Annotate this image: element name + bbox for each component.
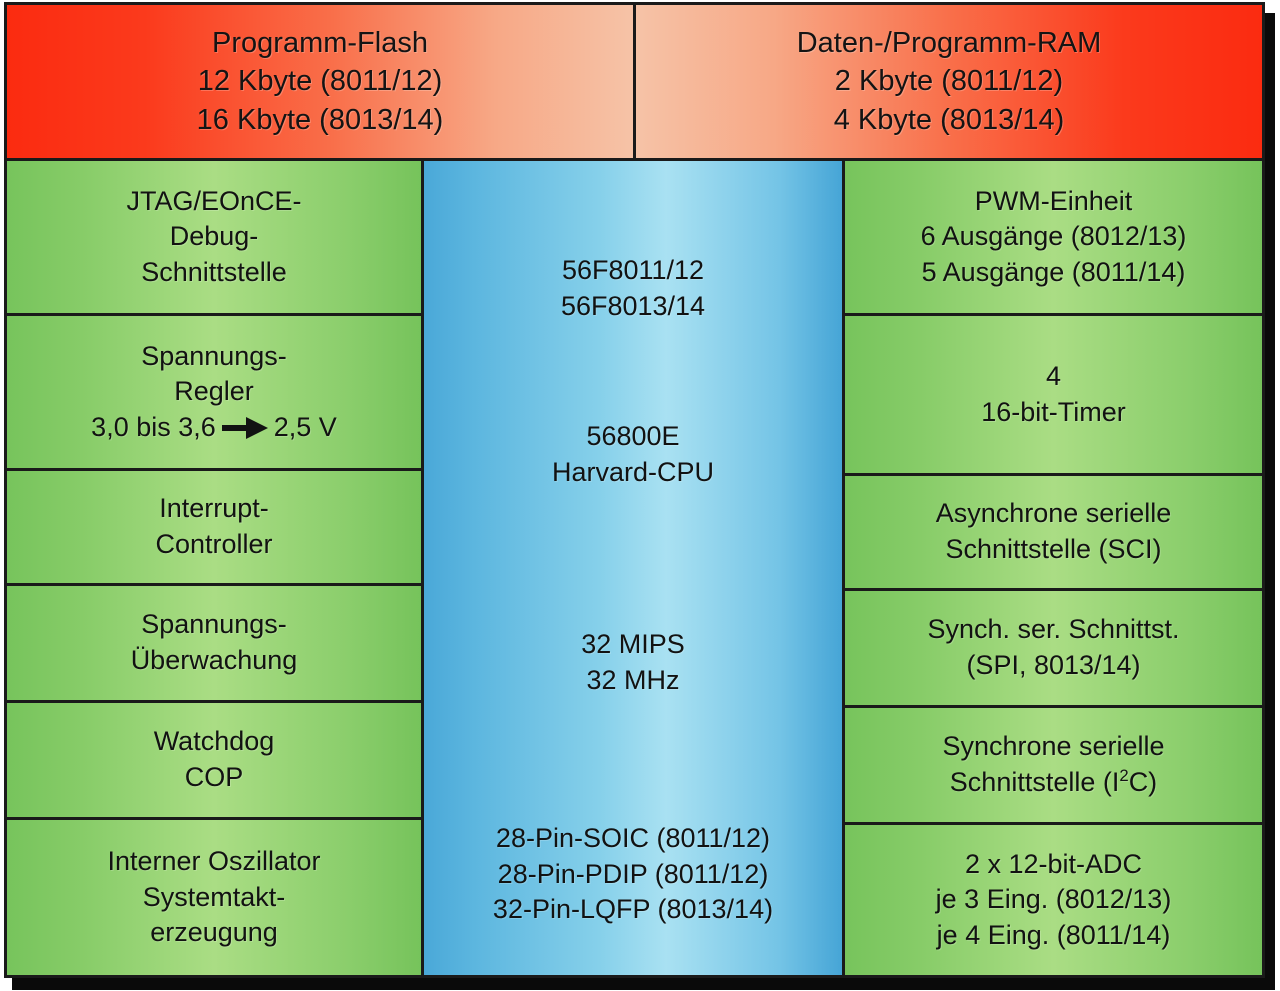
cpu-packages: 28-Pin-SOIC (8011/12) 28-Pin-PDIP (8011/…: [424, 821, 842, 928]
watchdog-line1: Watchdog: [154, 724, 275, 760]
block-pwm-unit: PWM-Einheit 6 Ausgänge (8012/13) 5 Ausgä…: [845, 161, 1262, 316]
left-peripheral-column: JTAG/EOnCE- Debug- Schnittstelle Spannun…: [7, 161, 424, 975]
right-peripheral-column: PWM-Einheit 6 Ausgänge (8012/13) 5 Ausgä…: [845, 161, 1262, 975]
pwm-line2: 6 Ausgänge (8012/13): [921, 219, 1187, 255]
adc-line2: je 3 Eing. (8012/13): [936, 882, 1172, 918]
block-adc: 2 x 12-bit-ADC je 3 Eing. (8012/13) je 4…: [845, 825, 1262, 975]
sci-line2: Schnittstelle (SCI): [945, 532, 1161, 568]
block-spi: Synch. ser. Schnittst. (SPI, 8013/14): [845, 591, 1262, 708]
ram-size-8011: 2 Kbyte (8011/12): [835, 62, 1063, 101]
ram-title: Daten-/Programm-RAM: [797, 24, 1102, 63]
cpu-core-line2: Harvard-CPU: [424, 455, 842, 491]
jtag-line3: Schnittstelle: [141, 255, 287, 291]
jtag-line1: JTAG/EOnCE-: [126, 184, 301, 220]
block-watchdog: Watchdog COP: [7, 703, 421, 820]
chip-frame: Programm-Flash 12 Kbyte (8011/12) 16 Kby…: [4, 2, 1265, 978]
vreg-voltage-in: 3,0 bis 3,6: [91, 410, 216, 446]
cpu-core: 56800E Harvard-CPU: [424, 419, 842, 490]
right-arrow-icon: [222, 417, 268, 439]
vmon-line2: Überwachung: [131, 643, 298, 679]
block-sci: Asynchrone serielle Schnittstelle (SCI): [845, 476, 1262, 591]
block-internal-oscillator: Interner Oszillator Systemtakt- erzeugun…: [7, 820, 421, 975]
cpu-speed: 32 MIPS 32 MHz: [424, 627, 842, 698]
i2c-superscript: 2: [1119, 766, 1128, 785]
vreg-line1: Spannungs-: [141, 339, 287, 375]
interrupt-line2: Controller: [155, 527, 272, 563]
vreg-line2: Regler: [174, 374, 254, 410]
cpu-mhz: 32 MHz: [424, 663, 842, 699]
block-i2c: Synchrone serielle Schnittstelle (I2C): [845, 708, 1262, 825]
adc-line1: 2 x 12-bit-ADC: [965, 847, 1142, 883]
block-program-flash: Programm-Flash 12 Kbyte (8011/12) 16 Kby…: [7, 5, 636, 158]
vreg-voltage-line: 3,0 bis 3,6 2,5 V: [91, 410, 337, 446]
cpu-mips: 32 MIPS: [424, 627, 842, 663]
columns-area: JTAG/EOnCE- Debug- Schnittstelle Spannun…: [7, 161, 1262, 975]
watchdog-line2: COP: [185, 760, 244, 796]
block-jtag-debug: JTAG/EOnCE- Debug- Schnittstelle: [7, 161, 421, 316]
program-flash-title: Programm-Flash: [212, 24, 428, 63]
timer-count: 4: [1046, 359, 1061, 395]
cpu-part-line2: 56F8013/14: [424, 289, 842, 325]
block-interrupt-controller: Interrupt- Controller: [7, 471, 421, 586]
osc-line2: Systemtakt-: [143, 880, 286, 916]
block-timers: 4 16-bit-Timer: [845, 316, 1262, 476]
program-flash-size-8013: 16 Kbyte (8013/14): [197, 101, 444, 140]
cpu-part-line1: 56F8011/12: [424, 253, 842, 289]
i2c-suffix: C): [1129, 767, 1158, 797]
center-cpu-column: 56F8011/12 56F8013/14 56800E Harvard-CPU…: [424, 161, 845, 975]
vmon-line1: Spannungs-: [141, 607, 287, 643]
i2c-line1: Synchrone serielle: [942, 729, 1164, 765]
pwm-line3: 5 Ausgänge (8011/14): [922, 255, 1186, 291]
i2c-line2: Schnittstelle (I2C): [950, 765, 1157, 801]
block-diagram: Programm-Flash 12 Kbyte (8011/12) 16 Kby…: [0, 0, 1280, 991]
program-flash-size-8011: 12 Kbyte (8011/12): [198, 62, 443, 101]
timer-type: 16-bit-Timer: [981, 395, 1126, 431]
cpu-core-line1: 56800E: [424, 419, 842, 455]
pwm-line1: PWM-Einheit: [975, 184, 1133, 220]
cpu-part-numbers: 56F8011/12 56F8013/14: [424, 253, 842, 324]
osc-line3: erzeugung: [150, 915, 278, 951]
jtag-line2: Debug-: [170, 219, 259, 255]
i2c-prefix: Schnittstelle (I: [950, 767, 1120, 797]
adc-line3: je 4 Eing. (8011/14): [937, 918, 1171, 954]
package-lqfp: 32-Pin-LQFP (8013/14): [424, 892, 842, 928]
package-pdip: 28-Pin-PDIP (8011/12): [424, 857, 842, 893]
package-soic: 28-Pin-SOIC (8011/12): [424, 821, 842, 857]
spi-line1: Synch. ser. Schnittst.: [927, 612, 1179, 648]
interrupt-line1: Interrupt-: [159, 491, 269, 527]
block-voltage-regulator: Spannungs- Regler 3,0 bis 3,6 2,5 V: [7, 316, 421, 471]
vreg-voltage-out: 2,5 V: [274, 410, 337, 446]
memory-row: Programm-Flash 12 Kbyte (8011/12) 16 Kby…: [7, 5, 1262, 161]
spi-line2: (SPI, 8013/14): [966, 648, 1140, 684]
block-data-program-ram: Daten-/Programm-RAM 2 Kbyte (8011/12) 4 …: [636, 5, 1262, 158]
osc-line1: Interner Oszillator: [107, 844, 320, 880]
sci-line1: Asynchrone serielle: [936, 496, 1172, 532]
block-voltage-monitor: Spannungs- Überwachung: [7, 586, 421, 703]
ram-size-8013: 4 Kbyte (8013/14): [834, 101, 1065, 140]
